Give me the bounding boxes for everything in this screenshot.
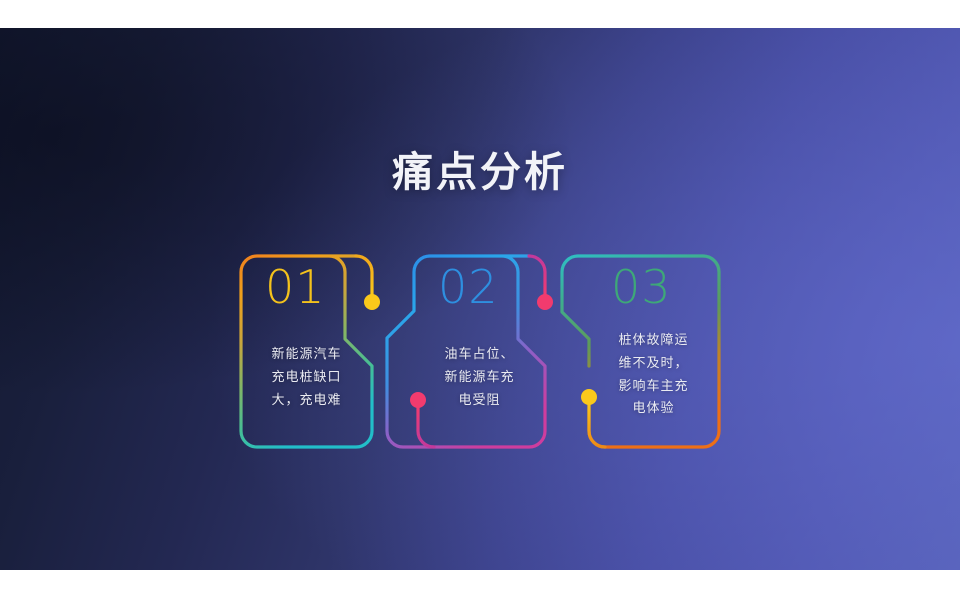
cards-vector-layer xyxy=(0,28,960,570)
slide-canvas: 痛点分析 xyxy=(0,28,960,570)
connector-dot-yellow-lower xyxy=(581,389,597,405)
card-01-outline xyxy=(241,256,372,447)
card-03-stem xyxy=(589,403,605,447)
connector-dot-yellow xyxy=(364,294,380,310)
card-02-outline xyxy=(387,256,545,447)
connector-dot-pink xyxy=(537,294,553,310)
card-02-stem xyxy=(529,256,545,296)
connector-dot-pink-lower xyxy=(410,392,426,408)
pain-point-cards: 01 新能源汽车 充电桩缺口 大，充电难 02 油车占位、 新能源车充 电受阻 … xyxy=(0,28,960,570)
card-02-stem-lower xyxy=(418,406,434,447)
page-title: 痛点分析 xyxy=(0,138,960,198)
card-03-outline xyxy=(562,256,719,447)
card-01-stem xyxy=(356,256,372,296)
